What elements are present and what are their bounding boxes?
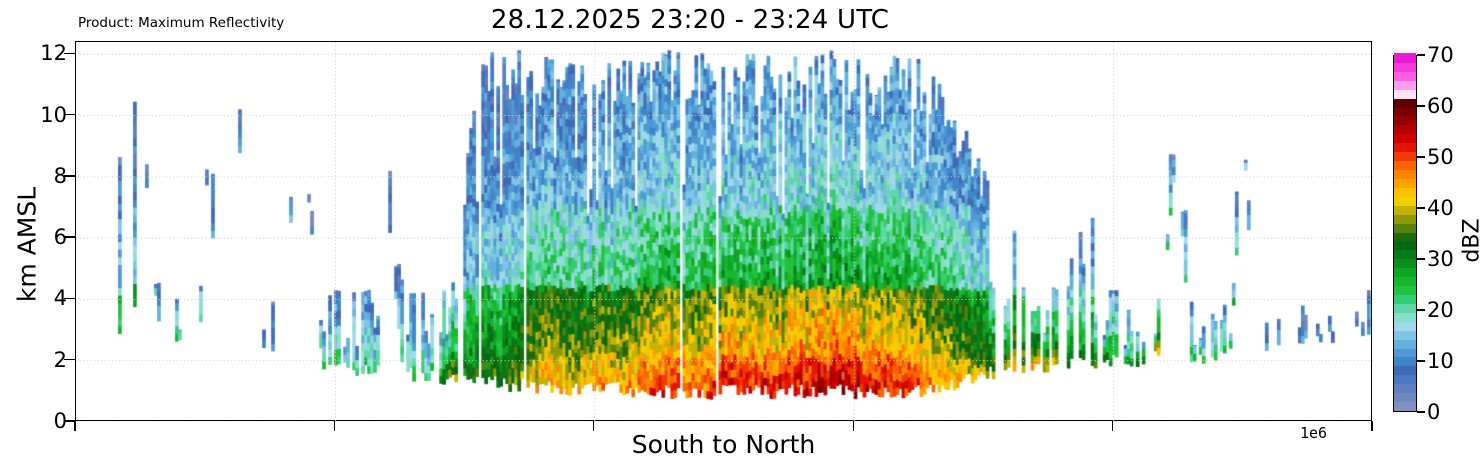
y-tick-mark bbox=[64, 53, 75, 54]
colorbar-segment bbox=[1394, 241, 1416, 251]
colorbar-tick-mark bbox=[1417, 156, 1425, 157]
colorbar-segment bbox=[1394, 277, 1416, 287]
y-tick-label: 10 bbox=[40, 103, 67, 127]
colorbar-segment bbox=[1394, 53, 1416, 63]
colorbar-segment bbox=[1394, 401, 1416, 411]
colorbar-segment bbox=[1394, 196, 1416, 206]
y-tick-mark bbox=[64, 298, 75, 299]
colorbar-segment bbox=[1394, 169, 1416, 179]
colorbar-segment bbox=[1394, 116, 1416, 126]
colorbar-segment bbox=[1394, 98, 1416, 108]
colorbar-tick-mark bbox=[1417, 360, 1425, 361]
colorbar-segment bbox=[1394, 393, 1416, 403]
colorbar-segment bbox=[1394, 375, 1416, 385]
colorbar-segment bbox=[1394, 205, 1416, 215]
colorbar-tick-mark bbox=[1417, 105, 1425, 106]
x-tick-mark bbox=[853, 421, 854, 431]
colorbar-segment bbox=[1394, 214, 1416, 224]
colorbar-segment bbox=[1394, 178, 1416, 188]
colorbar-segment bbox=[1394, 187, 1416, 197]
colorbar bbox=[1393, 55, 1417, 412]
radar-cross-section-figure: 28.12.2025 23:20 - 23:24 UTC Product: Ma… bbox=[0, 0, 1482, 470]
colorbar-tick-label: 50 bbox=[1427, 145, 1454, 169]
colorbar-segment bbox=[1394, 294, 1416, 304]
colorbar-segment bbox=[1394, 339, 1416, 349]
x-axis-label: South to North bbox=[75, 430, 1372, 459]
colorbar-tick-label: 20 bbox=[1427, 298, 1454, 322]
colorbar-segment bbox=[1394, 232, 1416, 242]
colorbar-tick-mark bbox=[1417, 258, 1425, 259]
y-axis-label: km AMSL bbox=[13, 135, 42, 355]
colorbar-segment bbox=[1394, 71, 1416, 81]
colorbar-segment bbox=[1394, 312, 1416, 322]
colorbar-gradient bbox=[1393, 55, 1417, 412]
colorbar-tick-mark bbox=[1417, 207, 1425, 208]
colorbar-tick-label: 70 bbox=[1427, 43, 1454, 67]
colorbar-segment bbox=[1394, 62, 1416, 72]
y-tick-label: 12 bbox=[40, 41, 67, 65]
colorbar-segment bbox=[1394, 223, 1416, 233]
x-tick-mark bbox=[1371, 421, 1372, 431]
colorbar-segment bbox=[1394, 366, 1416, 376]
y-tick-mark bbox=[64, 175, 75, 176]
colorbar-tick-mark bbox=[1417, 411, 1425, 412]
y-tick-mark bbox=[64, 359, 75, 360]
colorbar-segment bbox=[1394, 152, 1416, 162]
x-tick-mark bbox=[334, 421, 335, 431]
colorbar-tick-label: 0 bbox=[1427, 400, 1440, 424]
plot-axes bbox=[75, 41, 1372, 421]
colorbar-segment bbox=[1394, 134, 1416, 144]
colorbar-segment bbox=[1394, 384, 1416, 394]
colorbar-segment bbox=[1394, 321, 1416, 331]
colorbar-segment bbox=[1394, 250, 1416, 260]
colorbar-segment bbox=[1394, 357, 1416, 367]
colorbar-tick-label: 60 bbox=[1427, 94, 1454, 118]
colorbar-segment bbox=[1394, 80, 1416, 90]
colorbar-title: dBZ bbox=[1460, 161, 1482, 321]
colorbar-segment bbox=[1394, 330, 1416, 340]
colorbar-segment bbox=[1394, 259, 1416, 269]
colorbar-segment bbox=[1394, 143, 1416, 153]
colorbar-segment bbox=[1394, 268, 1416, 278]
colorbar-segment bbox=[1394, 348, 1416, 358]
colorbar-tick-label: 40 bbox=[1427, 196, 1454, 220]
product-annotation: Product: Maximum Reflectivity bbox=[78, 15, 284, 31]
x-tick-mark bbox=[1112, 421, 1113, 431]
x-tick-mark bbox=[74, 421, 75, 431]
colorbar-tick-mark bbox=[1417, 309, 1425, 310]
colorbar-segment bbox=[1394, 303, 1416, 313]
x-axis-offset-text: 1e6 bbox=[1300, 424, 1380, 442]
colorbar-tick-label: 30 bbox=[1427, 247, 1454, 271]
colorbar-segment bbox=[1394, 125, 1416, 135]
y-tick-mark bbox=[64, 114, 75, 115]
y-tick-mark bbox=[64, 236, 75, 237]
colorbar-segment bbox=[1394, 89, 1416, 99]
colorbar-segment bbox=[1394, 107, 1416, 117]
colorbar-tick-mark bbox=[1417, 54, 1425, 55]
reflectivity-heatmap bbox=[76, 42, 1373, 422]
colorbar-tick-label: 10 bbox=[1427, 349, 1454, 373]
colorbar-segment bbox=[1394, 285, 1416, 295]
x-tick-mark bbox=[593, 421, 594, 431]
colorbar-segment bbox=[1394, 161, 1416, 171]
